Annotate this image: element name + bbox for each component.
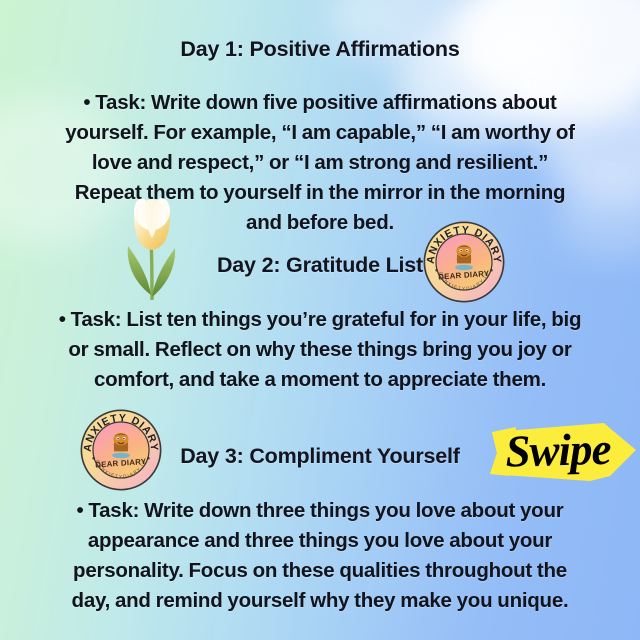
day-2-heading: Day 2: Gratitude List [0, 253, 640, 278]
day-2-task-text: • Task: List ten things you’re grateful … [58, 305, 582, 395]
day-3-task-text: • Task: Write down three things you love… [58, 496, 582, 616]
post-canvas: Day 1: Positive Affirmations • Task: Wri… [0, 0, 640, 640]
day-1-heading: Day 1: Positive Affirmations [0, 37, 640, 62]
swipe-label: Swipe [485, 418, 639, 486]
swipe-sticker[interactable]: Swipe [486, 420, 638, 484]
tulip-flower-icon [112, 196, 192, 306]
